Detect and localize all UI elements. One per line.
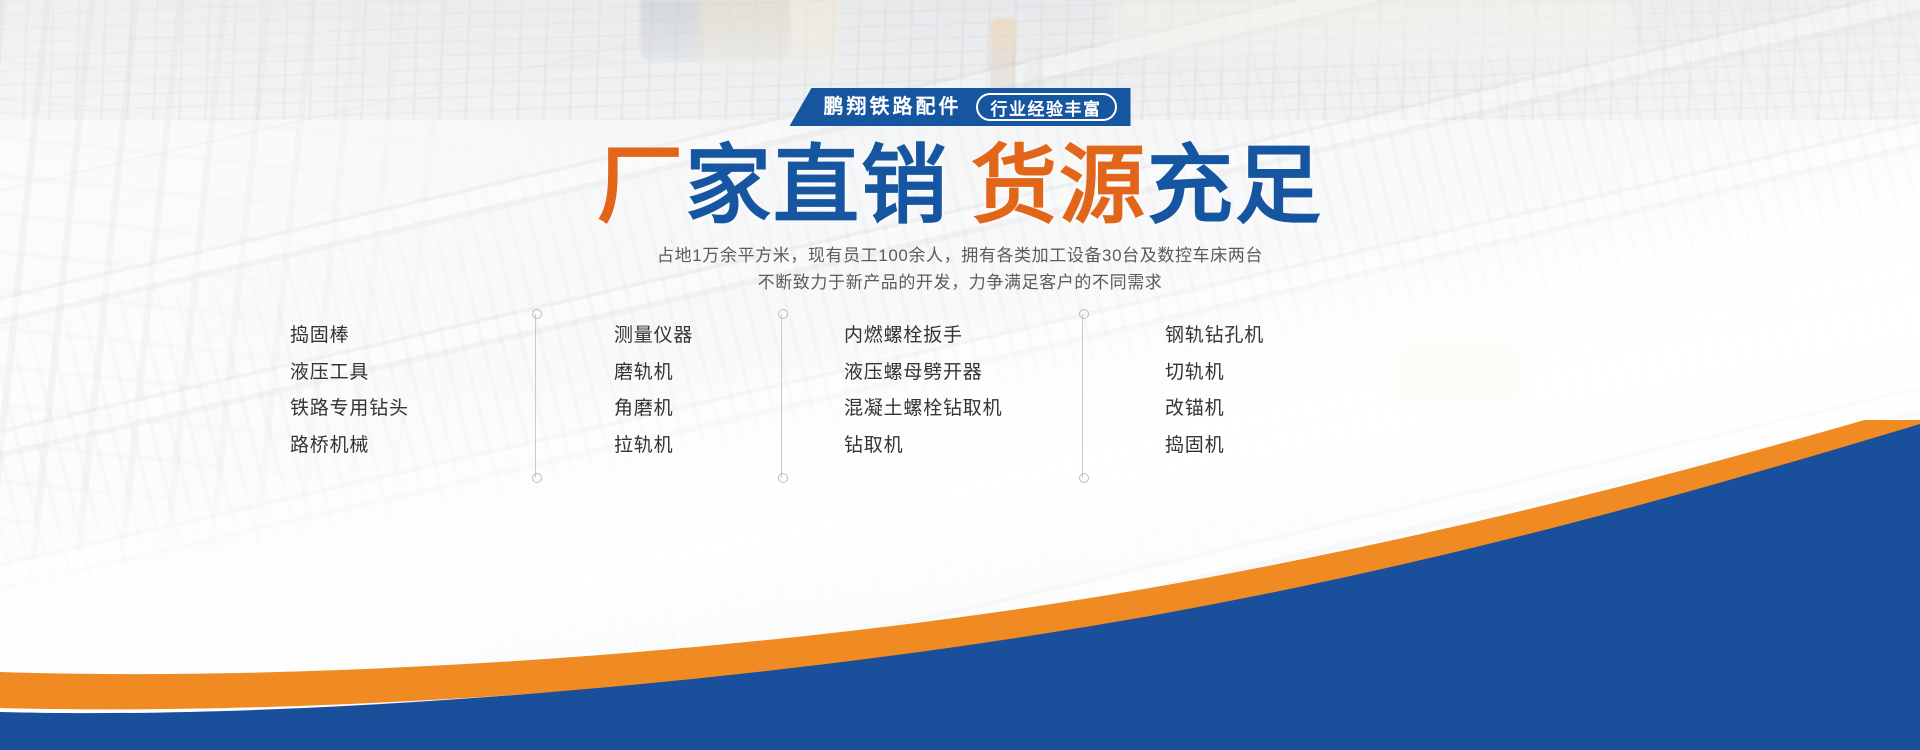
headline: 厂家直销货源充足 [0,143,1920,229]
experience-pill: 行业经验丰富 [976,93,1117,121]
product-item[interactable]: 混凝土螺栓钻取机 [844,391,1082,428]
product-item[interactable]: 改锚机 [1165,391,1343,428]
product-item[interactable]: 钻取机 [844,428,1082,465]
product-column-4: 钢轨钻孔机 切轨机 改锚机 捣固机 [1083,318,1343,478]
product-category-columns: 捣固棒 液压工具 铁路专用钻头 路桥机械 测量仪器 磨轨机 角磨机 拉轨机 内燃… [290,318,1640,478]
promo-banner: 鹏翔铁路配件 行业经验丰富 厂家直销货源充足 占地1万余平方米，现有员工100余… [0,0,1920,750]
product-item[interactable]: 钢轨钻孔机 [1165,318,1343,355]
product-column-3: 内燃螺栓扳手 液压螺母劈开器 混凝土螺栓钻取机 钻取机 [782,318,1082,478]
product-item[interactable]: 测量仪器 [614,318,781,355]
subtitle-line-2: 不断致力于新产品的开发，力争满足客户的不同需求 [0,269,1920,296]
subtitle-line-1: 占地1万余平方米，现有员工100余人，拥有各类加工设备30台及数控车床两台 [0,242,1920,269]
headline-part-3: 货源 [971,138,1147,234]
brand-badge: 鹏翔铁路配件 行业经验丰富 [790,88,1131,126]
product-item[interactable]: 液压工具 [290,355,535,392]
product-column-1: 捣固棒 液压工具 铁路专用钻头 路桥机械 [290,318,535,478]
headline-part-2: 家直销 [685,138,949,234]
product-item[interactable]: 角磨机 [614,391,781,428]
headline-part-1: 厂 [597,138,685,234]
banner-content: 鹏翔铁路配件 行业经验丰富 厂家直销货源充足 占地1万余平方米，现有员工100余… [0,0,1920,750]
product-item[interactable]: 路桥机械 [290,428,535,465]
product-item[interactable]: 铁路专用钻头 [290,391,535,428]
headline-part-4: 充足 [1147,138,1323,234]
product-item[interactable]: 拉轨机 [614,428,781,465]
product-column-2: 测量仪器 磨轨机 角磨机 拉轨机 [536,318,781,478]
product-item[interactable]: 捣固棒 [290,318,535,355]
brand-badge-row: 鹏翔铁路配件 行业经验丰富 [0,88,1920,126]
subtitle: 占地1万余平方米，现有员工100余人，拥有各类加工设备30台及数控车床两台 不断… [0,242,1920,296]
product-item[interactable]: 捣固机 [1165,428,1343,465]
product-item[interactable]: 内燃螺栓扳手 [844,318,1082,355]
product-item[interactable]: 液压螺母劈开器 [844,355,1082,392]
product-item[interactable]: 磨轨机 [614,355,781,392]
product-item[interactable]: 切轨机 [1165,355,1343,392]
brand-badge-title: 鹏翔铁路配件 [824,97,962,117]
